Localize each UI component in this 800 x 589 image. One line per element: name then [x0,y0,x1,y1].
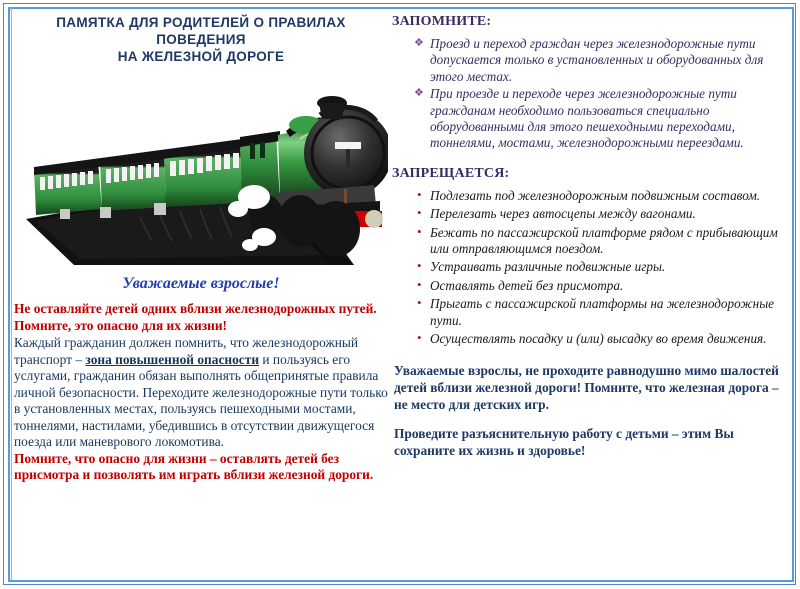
buffer-right [365,210,383,228]
list-item: Осуществлять посадку и (или) высадку во … [414,331,782,347]
list-item: Подлезать под железнодорожным подвижным … [414,188,782,204]
list-item: Устраивать различные подвижные игры. [414,259,782,275]
list-item: Прыгать с пассажирской платформы на желе… [414,296,782,329]
heading-forbidden: ЗАПРЕЩАЕТСЯ: [392,166,788,182]
page-border-right [792,7,794,582]
cab-window-2 [260,142,265,158]
closing-paragraph-1: Уважаемые взрослы, не проходите равнодуш… [394,362,782,413]
list-item: Проезд и переход граждан через железнодо… [414,36,782,85]
cab-window-1 [250,143,255,159]
left-column: ПАМЯТКА ДЛЯ РОДИТЕЛЕЙ О ПРАВИЛАХ ПОВЕДЕН… [14,8,388,580]
left-warning-top: Не оставляйте детей одних вблизи железно… [14,301,388,334]
smokebox-door-handle [346,149,350,167]
page-title: ПАМЯТКА ДЛЯ РОДИТЕЛЕЙ О ПРАВИЛАХ ПОВЕДЕН… [14,8,388,65]
list-item: Бежать по пассажирской платформе рядом с… [414,225,782,258]
list-item: Оставлять детей без присмотра. [414,278,782,294]
chimney [319,103,345,119]
heading-remember: ЗАПОМНИТЕ: [392,14,788,30]
steam-train-illustration [14,69,388,269]
remember-list: Проезд и переход граждан через железнодо… [392,36,788,152]
left-warning-bottom: Помните, что опасно для жизни – оставлят… [14,451,388,484]
left-body-paragraph: Каждый гражданин должен помнить, что жел… [14,335,388,451]
list-item: Перелезать через автосцепы между вагонам… [414,206,782,222]
numberplate [335,142,361,149]
forbidden-list: Подлезать под железнодорожным подвижным … [392,188,788,348]
closing-paragraph-2: Проведите разъяснительную работу с детьм… [394,425,782,459]
right-column: ЗАПОМНИТЕ: Проезд и переход граждан чере… [392,8,788,580]
left-lead-heading: Уважаемые взрослые! [14,275,388,293]
page-border-left [8,7,12,582]
train-svg [14,69,388,269]
list-item: При проезде и переходе через железнодоро… [414,86,782,152]
page-border-bottom [8,580,792,582]
poster-page: ПАМЯТКА ДЛЯ РОДИТЕЛЕЙ О ПРАВИЛАХ ПОВЕДЕН… [0,0,800,589]
left-body-highlight: зона повышенной опасности [85,352,259,367]
